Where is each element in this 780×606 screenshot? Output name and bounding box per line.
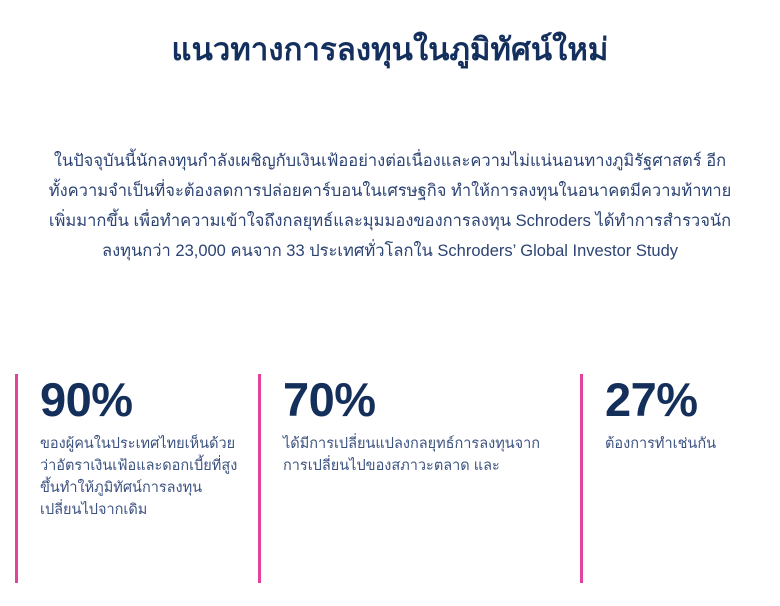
stat-card-1: 90% ของผู้คนในประเทศไทยเห็นด้วย ว่าอัตรา…: [15, 374, 245, 583]
stat-description-2: ได้มีการเปลี่ยนแปลงกลยุทธ์การลงทุนจาก กา…: [283, 433, 526, 477]
stat-card-2: 70% ได้มีการเปลี่ยนแปลงกลยุทธ์การลงทุนจา…: [258, 374, 526, 583]
intro-line-2: ทั้งความจำเป็นที่จะต้องลดการปล่อยคาร์บอน…: [38, 176, 742, 206]
stat-1-line-1: ของผู้คนในประเทศไทยเห็นด้วย: [40, 433, 245, 455]
stat-1-line-2: ว่าอัตราเงินเฟ้อและดอกเบี้ยที่สูง: [40, 455, 245, 477]
stat-3-line-1: ต้องการทำเช่นกัน: [605, 433, 780, 455]
statistics-row: 90% ของผู้คนในประเทศไทยเห็นด้วย ว่าอัตรา…: [0, 374, 780, 584]
page-title: แนวทางการลงทุนในภูมิทัศน์ใหม่: [0, 29, 780, 71]
stat-1-line-4: เปลี่ยนไปจากเดิม: [40, 499, 245, 521]
stat-value-2: 70%: [283, 376, 526, 423]
stat-1-line-3: ขึ้นทำให้ภูมิทัศน์การลงทุน: [40, 477, 245, 499]
intro-paragraph: ในปัจจุบันนี้นักลงทุนกำลังเผชิญกับเงินเฟ…: [38, 146, 742, 266]
stat-card-3: 27% ต้องการทำเช่นกัน: [580, 374, 780, 583]
stat-2-line-1: ได้มีการเปลี่ยนแปลงกลยุทธ์การลงทุนจาก: [283, 433, 526, 455]
infographic-page: แนวทางการลงทุนในภูมิทัศน์ใหม่ ในปัจจุบัน…: [0, 0, 780, 606]
stat-value-3: 27%: [605, 376, 780, 423]
stat-description-1: ของผู้คนในประเทศไทยเห็นด้วย ว่าอัตราเงิน…: [40, 433, 245, 521]
stat-value-1: 90%: [40, 376, 245, 423]
stat-2-line-2: การเปลี่ยนไปของสภาวะตลาด และ: [283, 455, 526, 477]
stat-description-3: ต้องการทำเช่นกัน: [605, 433, 780, 455]
intro-line-4: ลงทุนกว่า 23,000 คนจาก 33 ประเทศทั่วโลกใ…: [38, 236, 742, 266]
intro-line-3: เพิ่มมากขึ้น เพื่อทำความเข้าใจถึงกลยุทธ์…: [38, 206, 742, 236]
intro-line-1: ในปัจจุบันนี้นักลงทุนกำลังเผชิญกับเงินเฟ…: [38, 146, 742, 176]
